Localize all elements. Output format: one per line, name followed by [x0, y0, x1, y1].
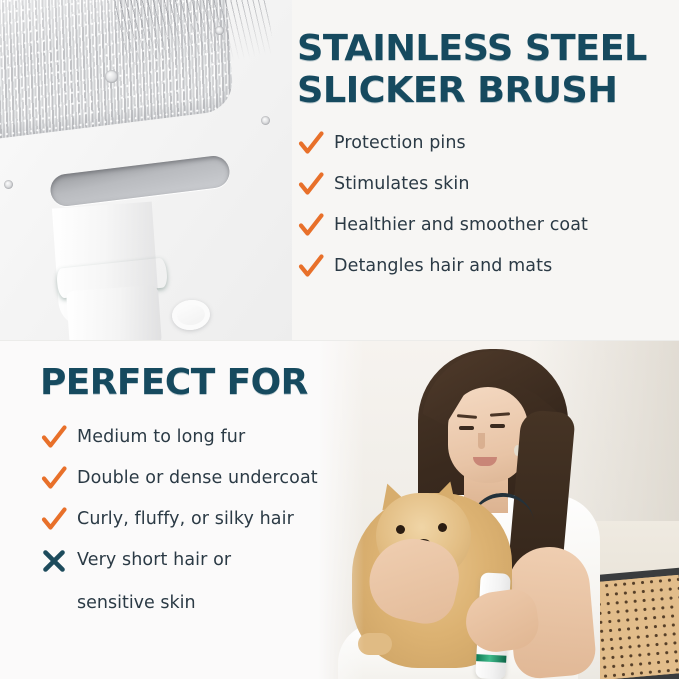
- product-infographic: STAINLESS STEEL SLICKER BRUSH Protection…: [0, 0, 679, 679]
- list-item: Curly, fluffy, or silky hair: [40, 505, 370, 538]
- list-item: Very short hair or: [40, 546, 370, 579]
- brush-mini-green-ring: [476, 654, 506, 663]
- list-item-label: Medium to long fur: [77, 423, 245, 451]
- brush-release-button: [171, 298, 212, 332]
- list-item-continuation: sensitive skin: [77, 589, 370, 617]
- page-title: STAINLESS STEEL SLICKER BRUSH: [297, 28, 664, 112]
- check-icon: [40, 465, 68, 493]
- list-item-label: Stimulates skin: [334, 170, 470, 198]
- bottom-copy-block: PERFECT FOR Medium to long fur Double or…: [40, 362, 370, 617]
- check-icon: [297, 171, 325, 199]
- check-icon: [40, 506, 68, 534]
- brush-screw-icon: [261, 116, 270, 125]
- headline-line-2: SLICKER BRUSH: [297, 70, 664, 112]
- headline-line-1: STAINLESS STEEL: [297, 28, 647, 69]
- check-icon: [297, 212, 325, 240]
- list-item: Double or dense undercoat: [40, 464, 370, 497]
- top-panel: STAINLESS STEEL SLICKER BRUSH Protection…: [0, 0, 679, 341]
- woman-nose: [478, 433, 485, 449]
- list-item: Detangles hair and mats: [297, 252, 657, 285]
- top-copy-block: STAINLESS STEEL SLICKER BRUSH Protection…: [297, 28, 657, 293]
- dog-eye: [438, 523, 447, 532]
- brush-screw-icon: [4, 180, 13, 189]
- check-icon: [297, 253, 325, 281]
- top-feature-list: Protection pins Stimulates skin Healthie…: [297, 129, 657, 285]
- bottom-panel: PERFECT FOR Medium to long fur Double or…: [0, 341, 679, 679]
- check-icon: [40, 424, 68, 452]
- brush-center-screw-icon: [105, 70, 118, 83]
- x-icon: [40, 547, 68, 575]
- brush-product-photo: [0, 0, 292, 341]
- list-item-label: Protection pins: [334, 129, 466, 157]
- section-title: PERFECT FOR: [40, 362, 370, 404]
- woman-eye: [459, 426, 474, 430]
- dog-eye: [396, 525, 405, 534]
- list-item: Healthier and smoother coat: [297, 211, 657, 244]
- list-item: Protection pins: [297, 129, 657, 162]
- list-item-label: Double or dense undercoat: [77, 464, 318, 492]
- list-item-label: Healthier and smoother coat: [334, 211, 588, 239]
- lifestyle-photo: [318, 341, 679, 679]
- list-item-label: Curly, fluffy, or silky hair: [77, 505, 294, 533]
- brush-screw-icon: [215, 26, 224, 35]
- brush-handle-grip: [66, 285, 162, 341]
- list-item-label: Very short hair or: [77, 546, 231, 574]
- bottom-suitability-list: Medium to long fur Double or dense under…: [40, 423, 370, 579]
- list-item-label: Detangles hair and mats: [334, 252, 552, 280]
- check-icon: [297, 130, 325, 158]
- list-item: Stimulates skin: [297, 170, 657, 203]
- list-item: Medium to long fur: [40, 423, 370, 456]
- woman-eye: [490, 424, 505, 428]
